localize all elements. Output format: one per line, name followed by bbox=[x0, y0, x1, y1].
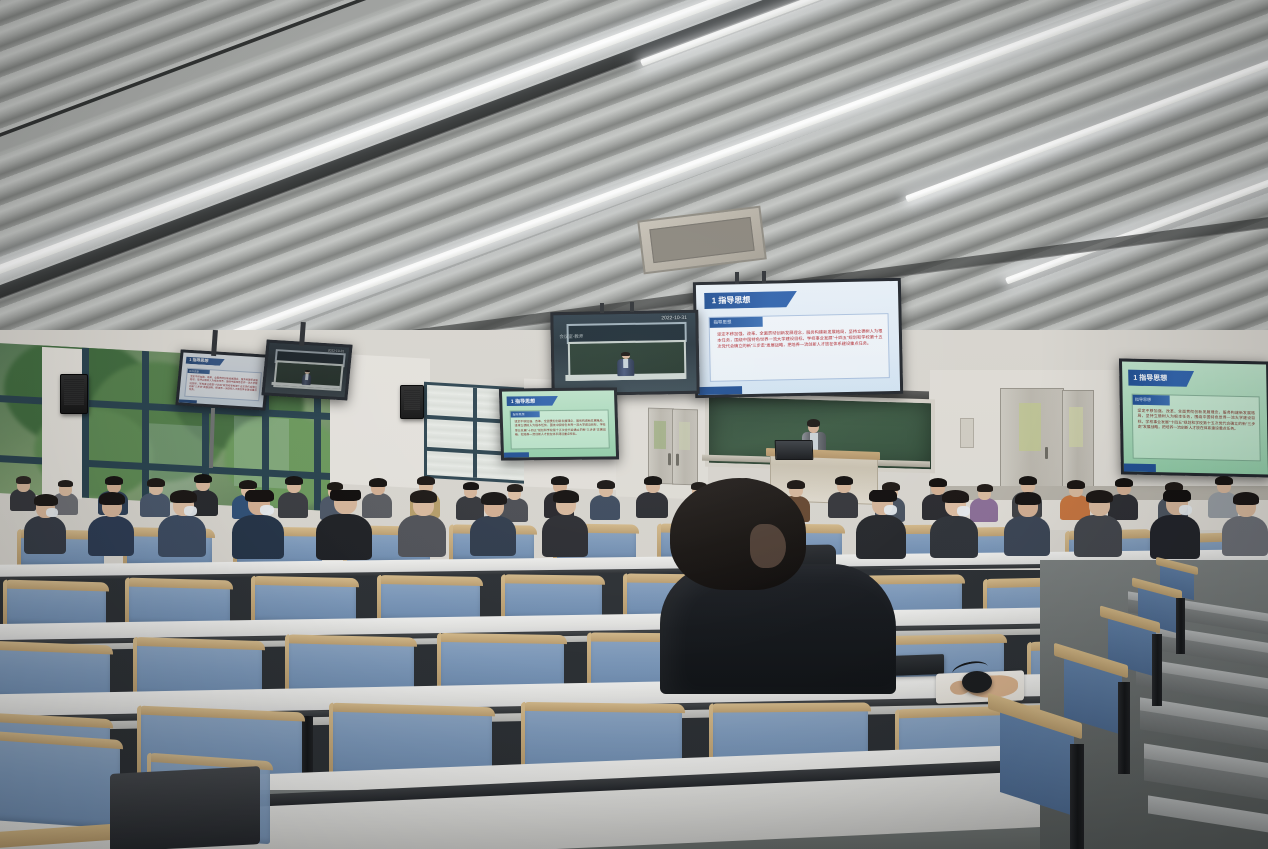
slide-panel: 指导思想 坚定不移加强、改革、全面贯彻创新发展理念，服务构建新发展格局，坚持立德… bbox=[509, 410, 610, 450]
slide-section-label: 指导思想 bbox=[189, 369, 199, 374]
slide-panel: 指导思想 坚定不移加强、改革、全面贯彻创新发展理念，服务构建新发展格局，坚持立德… bbox=[1131, 394, 1260, 462]
slide-left-far: 1 指导思想 指导思想 坚定不移加强、改革、全面贯彻创新发展理念，服务构建新发展… bbox=[179, 353, 268, 408]
slide-section-label: 指导思想 bbox=[1135, 397, 1151, 403]
main-projection-screen[interactable]: 1 指导思想 指导思想 坚定不移加强、改革、全面贯彻创新发展理念，服务构建新发展… bbox=[693, 278, 903, 398]
slide-footer bbox=[698, 386, 743, 395]
slide-main: 1 指导思想 指导思想 坚定不移加强、改革、全面贯彻创新发展理念，服务构建新发展… bbox=[696, 281, 900, 395]
audience-member bbox=[1222, 492, 1268, 552]
audience-member bbox=[316, 490, 372, 556]
slide-body: 坚定不移加强、改革、全面贯彻创新发展理念，服务构建新发展格局，坚持立德树人为根本… bbox=[717, 328, 883, 350]
slide-section-label: 指导思想 bbox=[512, 412, 524, 416]
screen-mount bbox=[630, 302, 634, 312]
camera-feed-secondary: 2022-10-31 bbox=[265, 343, 350, 398]
camera-feed: 2022-10-31 会议室-教师 bbox=[553, 313, 696, 393]
slide-title-bar: 1 指导思想 bbox=[1128, 369, 1195, 387]
slide-title: 1 指导思想 bbox=[511, 397, 535, 404]
screen-mount bbox=[600, 303, 604, 313]
camera-timestamp: 2022-10-31 bbox=[661, 315, 687, 321]
desk-leg bbox=[1070, 744, 1084, 849]
headphones bbox=[962, 671, 992, 693]
slide-title: 1 指导思想 bbox=[712, 294, 751, 306]
wall-speaker bbox=[60, 374, 88, 414]
slide-footer bbox=[504, 453, 529, 458]
foreground-attendee bbox=[624, 478, 876, 678]
audience-member bbox=[542, 490, 588, 552]
audience-member bbox=[232, 490, 284, 554]
audience-member bbox=[158, 490, 206, 552]
seat[interactable] bbox=[504, 577, 602, 619]
slide-section-bar: 指导思想 bbox=[510, 411, 539, 417]
slide-left-near: 1 指导思想 指导思想 坚定不移加强、改革、全面贯彻创新发展理念，服务构建新发展… bbox=[502, 390, 616, 457]
slide-right: 1 指导思想 指导思想 坚定不移加强、改革、全面贯彻创新发展理念，服务构建新发展… bbox=[1122, 361, 1268, 474]
audience-member bbox=[24, 494, 66, 550]
seat[interactable] bbox=[254, 579, 356, 624]
overhead-monitor-left-far[interactable]: 1 指导思想 指导思想 坚定不移加强、改革、全面贯彻创新发展理念，服务构建新发展… bbox=[175, 349, 270, 410]
desk-leg bbox=[1152, 634, 1162, 706]
audience-member bbox=[930, 490, 978, 554]
slide-title: 1 指导思想 bbox=[189, 357, 209, 364]
attendee-head bbox=[670, 478, 806, 590]
audience-laptop[interactable] bbox=[890, 654, 944, 676]
overhead-monitor-left-near[interactable]: 1 指导思想 指导思想 坚定不移加强、改革、全面贯彻创新发展理念，服务构建新发展… bbox=[499, 387, 619, 460]
slide-title-bar: 1 指导思想 bbox=[704, 291, 797, 309]
audience-member bbox=[398, 490, 446, 552]
seat[interactable] bbox=[0, 729, 120, 829]
audience-member bbox=[1074, 490, 1122, 552]
attendee-ear bbox=[750, 524, 786, 568]
audience-member bbox=[470, 492, 516, 552]
wall-speaker bbox=[400, 385, 424, 419]
audience-member bbox=[1150, 490, 1200, 554]
foreground-seat-shadow bbox=[110, 766, 260, 849]
camera-overlay-label: 会议室-教师 bbox=[559, 333, 583, 339]
slide-title: 1 指导思想 bbox=[1133, 373, 1167, 384]
screen-mount bbox=[735, 272, 739, 284]
presenter-laptop bbox=[775, 440, 814, 460]
screen-mount bbox=[762, 271, 766, 283]
slide-body: 坚定不移加强、改革、全面贯彻创新发展理念，服务构建新发展格局，坚持立德树人为根本… bbox=[1137, 409, 1255, 433]
seat[interactable] bbox=[380, 578, 480, 622]
slide-title-bar: 1 指导思想 bbox=[186, 356, 225, 366]
audience-member bbox=[1004, 492, 1050, 552]
side-projection-screen-right[interactable]: 1 指导思想 指导思想 坚定不移加强、改革、全面贯彻创新发展理念，服务构建新发展… bbox=[1119, 358, 1268, 477]
slide-section-bar: 指导思想 bbox=[188, 368, 210, 374]
audience-member bbox=[88, 492, 134, 552]
camera-feed-monitor[interactable]: 2022-10-31 会议室-教师 bbox=[550, 310, 699, 397]
wall-notice bbox=[960, 418, 974, 448]
desk-leg bbox=[1176, 598, 1185, 654]
slide-panel: 指导思想 坚定不移加强、改革、全面贯彻创新发展理念，服务构建新发展格局，坚持立德… bbox=[709, 313, 890, 382]
slide-panel: 指导思想 坚定不移加强、改革、全面贯彻创新发展理念，服务构建新发展格局，坚持立德… bbox=[184, 367, 262, 401]
slide-body: 坚定不移加强、改革、全面贯彻创新发展理念，服务构建新发展格局，坚持立德树人为根本… bbox=[189, 375, 258, 396]
slide-body: 坚定不移加强、改革、全面贯彻创新发展理念，服务构建新发展格局，坚持立德树人为根本… bbox=[514, 419, 605, 437]
camera-timestamp: 2022-10-31 bbox=[328, 348, 345, 353]
slide-title-bar: 1 指导思想 bbox=[507, 396, 559, 406]
lecture-hall-photo: 1 指导思想 指导思想 坚定不移加强、改革、全面贯彻创新发展理念，服务构建新发展… bbox=[0, 0, 1268, 849]
slide-section-bar: 指导思想 bbox=[1132, 395, 1170, 406]
slide-section-label: 指导思想 bbox=[713, 319, 731, 325]
slide-section-bar: 指导思想 bbox=[710, 317, 764, 328]
desk-leg bbox=[1118, 682, 1130, 774]
overhead-monitor-left-far-camera[interactable]: 2022-10-31 bbox=[261, 340, 352, 401]
